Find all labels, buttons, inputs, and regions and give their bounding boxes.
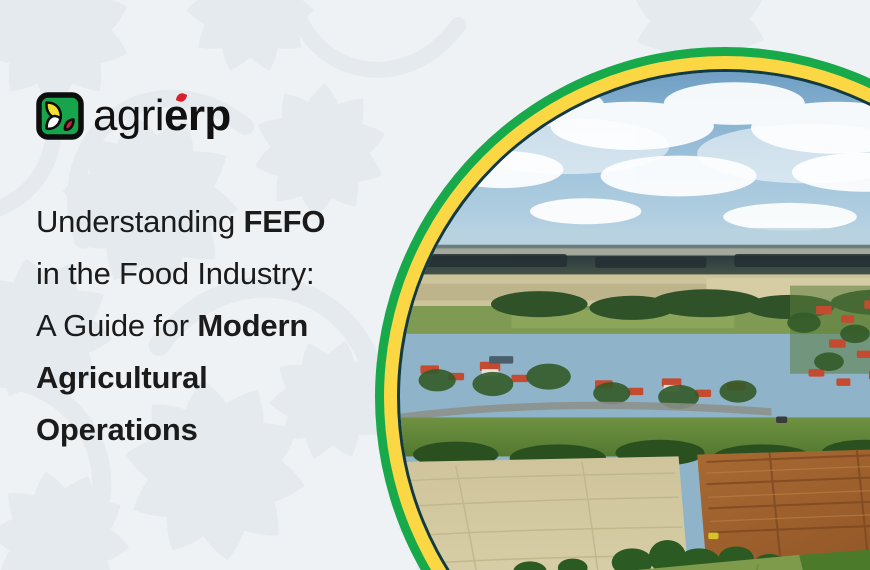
headline-line5-bold: Operations xyxy=(36,412,198,447)
wordmark-agri: agri xyxy=(93,91,164,140)
wordmark-erp: erp xyxy=(164,91,231,140)
agrierp-leaf-logo-icon xyxy=(36,92,84,140)
poster-canvas: agrierp Understanding FEFO in the Food I… xyxy=(0,0,870,570)
page-title: Understanding FEFO in the Food Industry:… xyxy=(36,196,386,456)
medallion-inner-edge xyxy=(397,69,870,570)
medallion-yellow-ring xyxy=(384,56,870,570)
headline-line1-plain: Understanding xyxy=(36,204,243,239)
headline-line3-plain: A Guide for xyxy=(36,308,197,343)
headline-line2: in the Food Industry: xyxy=(36,256,314,291)
brand-wordmark: agrierp xyxy=(93,94,231,138)
brand-logo[interactable]: agrierp xyxy=(36,90,231,142)
circular-photo-medallion xyxy=(375,47,870,570)
headline-line3-bold: Modern xyxy=(197,308,308,343)
headline-line1-bold: FEFO xyxy=(243,204,325,239)
aerial-farmland-photo xyxy=(400,72,870,570)
headline-line4-bold: Agricultural xyxy=(36,360,208,395)
